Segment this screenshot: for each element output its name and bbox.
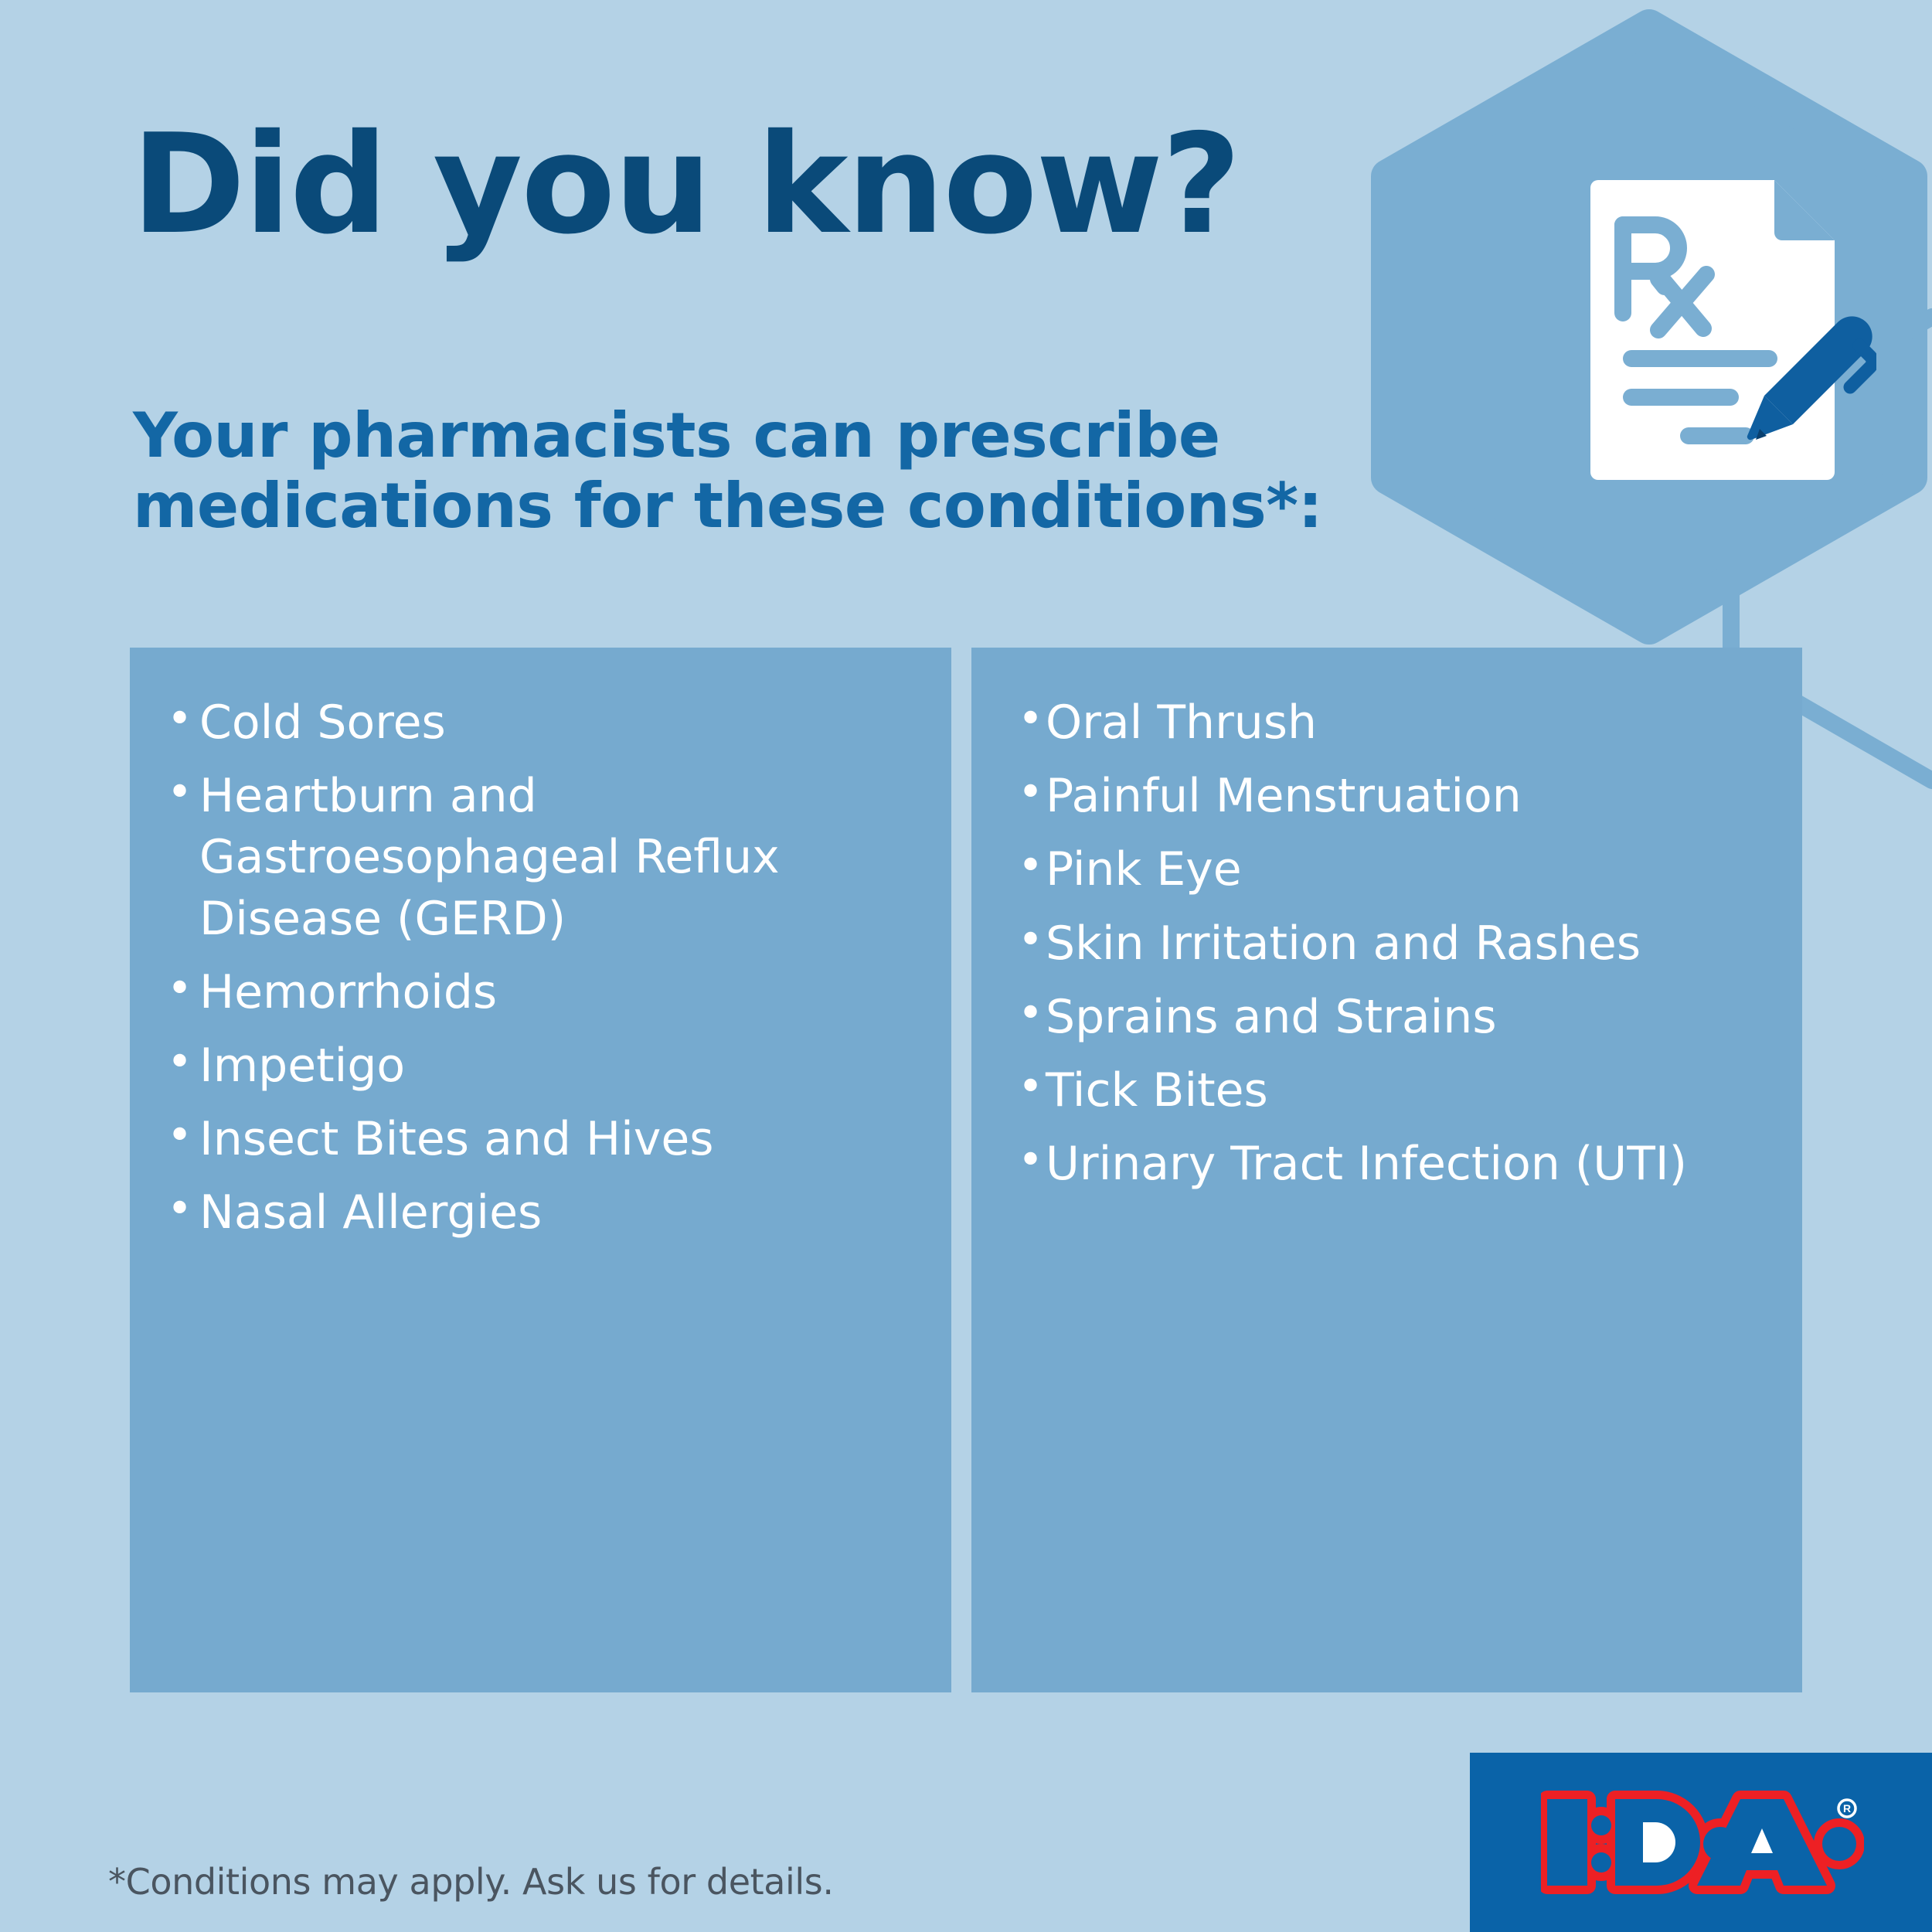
conditions-panels: Cold Sores Heartburn and Gastroesophagea… (130, 648, 1802, 1692)
conditions-panel-right: Oral Thrush Painful Menstruation Pink Ey… (971, 648, 1802, 1692)
rx-prescription-pen-icon (1590, 174, 1876, 483)
list-item: Pink Eye (1012, 839, 1771, 900)
list-item: Impetigo (161, 1036, 920, 1097)
page-title: Did you know? (131, 116, 1240, 253)
list-item: Skin Irritation and Rashes (1012, 913, 1771, 975)
page-subtitle: Your pharmacists can prescribe medicatio… (133, 400, 1322, 541)
ida-logo: R (1541, 1788, 1864, 1896)
svg-text:R: R (1843, 1802, 1851, 1815)
conditions-list-right: Oral Thrush Painful Menstruation Pink Ey… (1012, 692, 1771, 1195)
list-item: Painful Menstruation (1012, 766, 1771, 827)
subtitle-line-1: Your pharmacists can prescribe (133, 400, 1322, 471)
list-item: Heartburn and Gastroesophageal Reflux Di… (161, 766, 920, 950)
conditions-panel-left: Cold Sores Heartburn and Gastroesophagea… (130, 648, 951, 1692)
disclaimer-text: *Conditions may apply. Ask us for detail… (108, 1861, 834, 1903)
list-item: Tick Bites (1012, 1060, 1771, 1121)
list-item: Insect Bites and Hives (161, 1109, 920, 1170)
list-item: Urinary Tract Infection (UTI) (1012, 1134, 1771, 1195)
registered-mark-icon: R (1838, 1800, 1855, 1817)
subtitle-line-2: medications for these conditions*: (133, 471, 1322, 541)
list-item: Nasal Allergies (161, 1182, 920, 1243)
list-item: Sprains and Strains (1012, 987, 1771, 1048)
list-item: Cold Sores (161, 692, 920, 753)
list-item: Hemorrhoids (161, 962, 920, 1023)
ida-logo-block: R (1470, 1753, 1932, 1932)
list-item: Oral Thrush (1012, 692, 1771, 753)
conditions-list-left: Cold Sores Heartburn and Gastroesophagea… (161, 692, 920, 1244)
